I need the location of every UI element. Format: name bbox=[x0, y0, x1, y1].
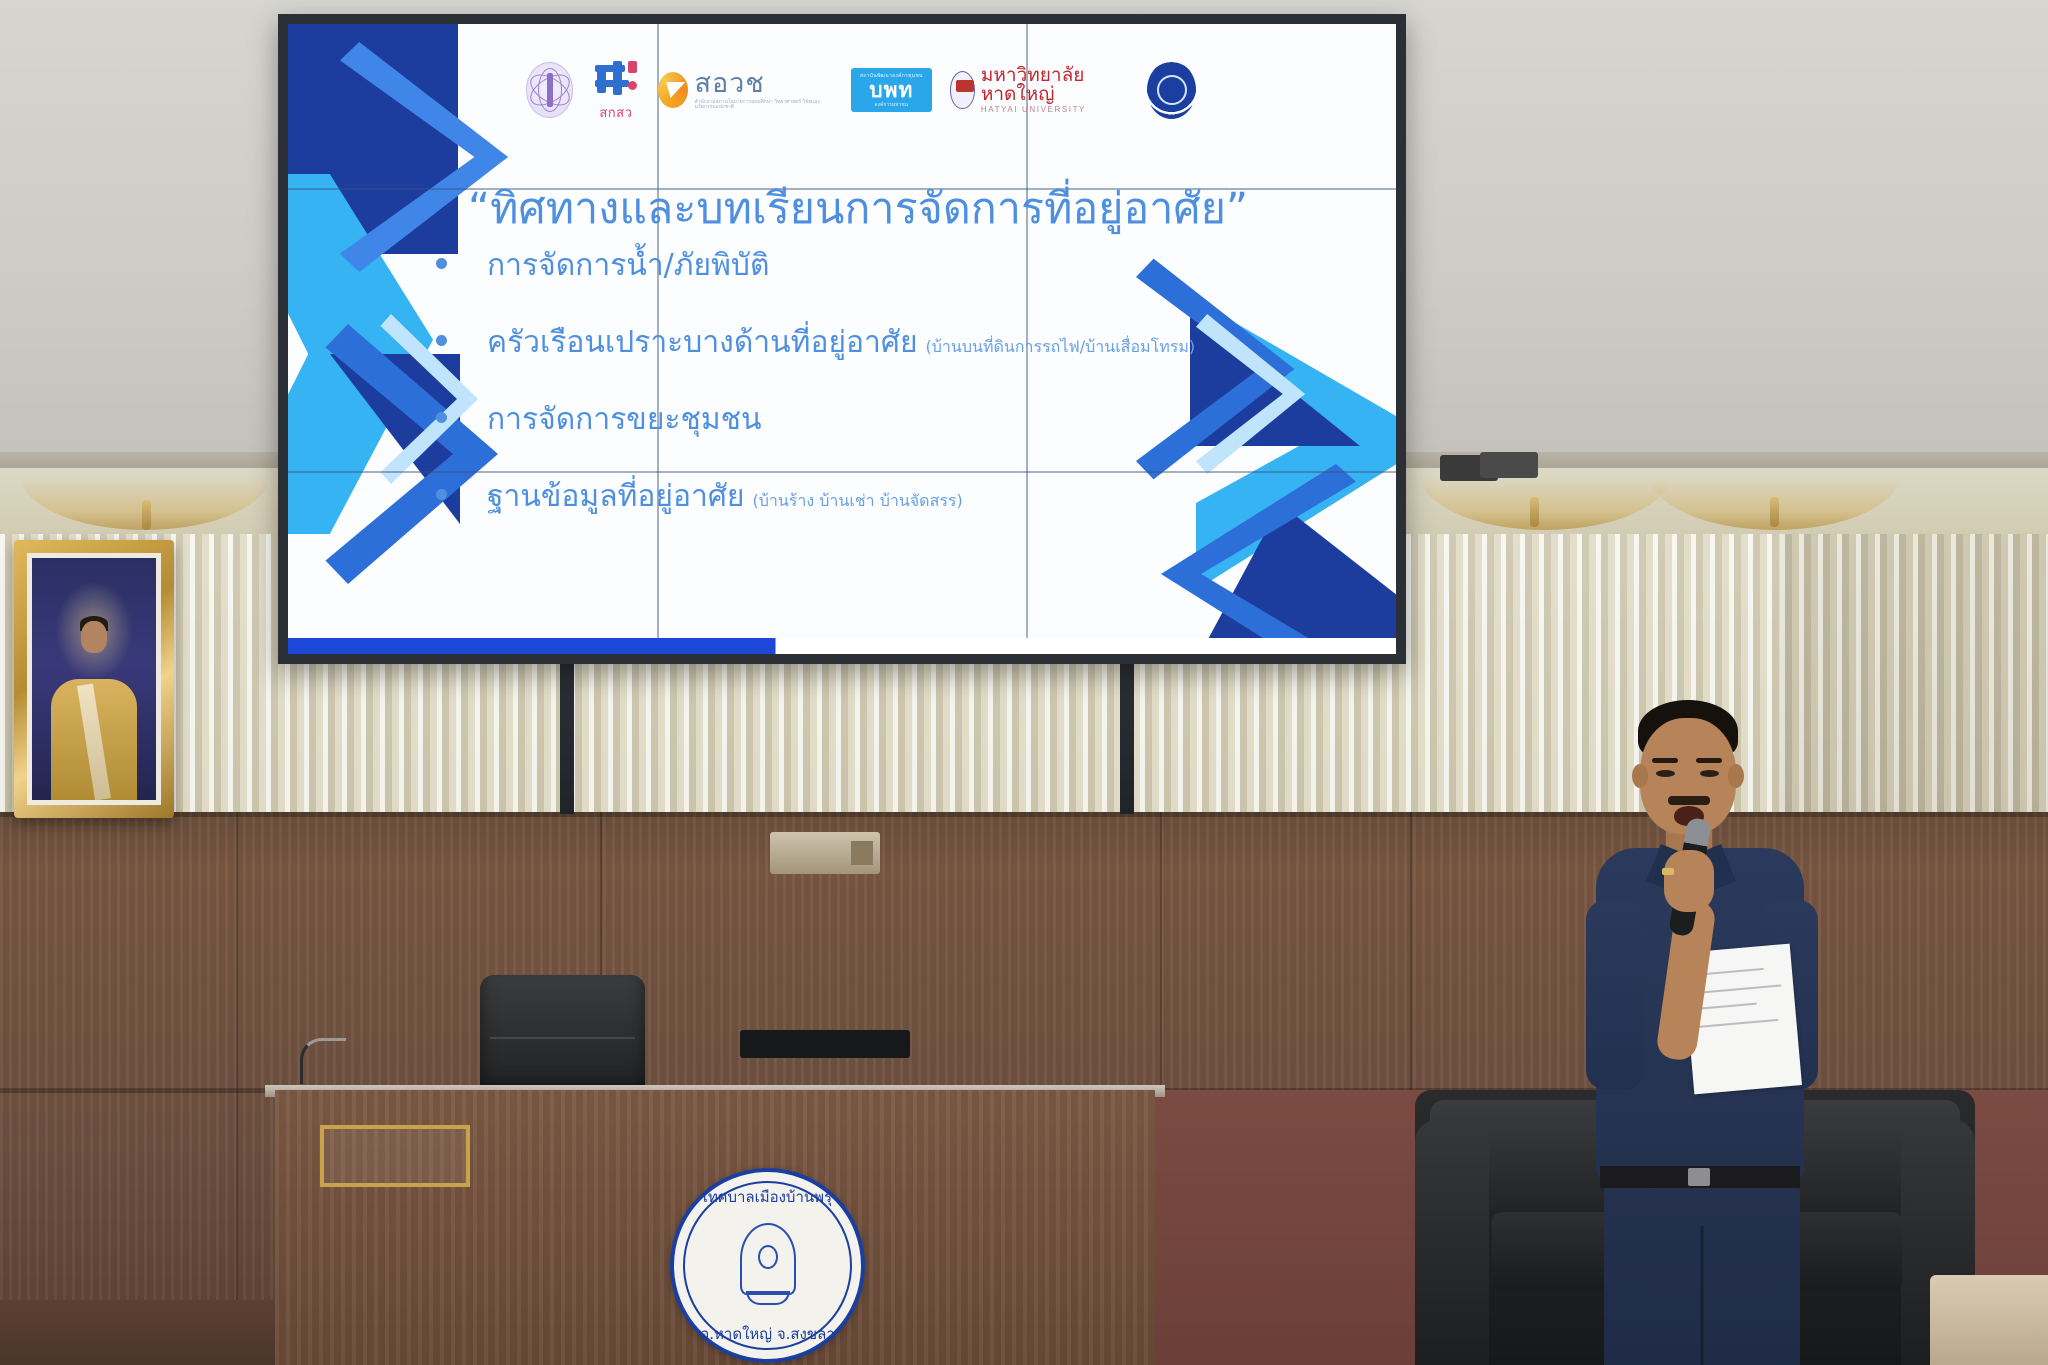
presenter-hand bbox=[1664, 850, 1714, 912]
list-item: การจัดการน้ำ/ภัยพิบัติ bbox=[436, 242, 1296, 289]
video-wall-display[interactable]: สกสว สอวช สำนักงานสภานโยบายการอุดมศึกษา … bbox=[278, 14, 1406, 664]
seal-deity-figure-icon bbox=[731, 1223, 805, 1309]
slide-logo-row: สกสว สอวช สำนักงานสภานโยบายการอุดมศึกษา … bbox=[526, 54, 1196, 126]
presenter-legs bbox=[1604, 1186, 1800, 1365]
hatyai-logo-label: มหาวิทยาลัยหาดใหญ่ bbox=[981, 66, 1129, 104]
wall-switch-plate[interactable] bbox=[770, 832, 880, 874]
municipal-seal-emblem: เทศบาลเมืองบ้านพรุ อ.หาดใหญ่ จ.สงขลา bbox=[670, 1168, 865, 1363]
curtain-tassel bbox=[142, 500, 151, 530]
sovp-logo-label: สอวช bbox=[694, 70, 832, 97]
nameplate-holder bbox=[320, 1125, 470, 1187]
wedding-ring bbox=[1662, 868, 1674, 875]
royal-portrait-image bbox=[32, 558, 156, 800]
municipal-seal-logo bbox=[1147, 61, 1196, 119]
display-mount-post bbox=[1120, 664, 1134, 814]
list-item: ฐานข้อมูลที่อยู่อาศัย (บ้านร้าง บ้านเช่า… bbox=[436, 473, 1296, 520]
sksw-logo-label: สกสว bbox=[591, 102, 640, 123]
bullet-note: (บ้านบนที่ดินการรถไฟ/บ้านเสื่อมโทรม) bbox=[926, 335, 1196, 360]
presenter-eyebrow-left bbox=[1652, 758, 1678, 763]
presenter-eye-right bbox=[1700, 770, 1719, 777]
list-item: การจัดการขยะชุมชน bbox=[436, 396, 1296, 443]
bullet-text: การจัดการขยะชุมชน bbox=[487, 396, 762, 443]
side-table bbox=[1930, 1275, 2048, 1365]
seal-bottom-text: อ.หาดใหญ่ จ.สงขลา bbox=[674, 1322, 861, 1346]
hatyai-university-logo: มหาวิทยาลัยหาดใหญ่ HATYAI UNIVERSITY bbox=[950, 66, 1129, 114]
sovp-logo: สอวช สำนักงานสภานโยบายการอุดมศึกษา วิทยา… bbox=[658, 70, 833, 110]
belt-buckle bbox=[1688, 1168, 1710, 1186]
executive-chair[interactable] bbox=[480, 975, 645, 1095]
tsri-logo bbox=[526, 62, 573, 118]
sovp-logo-sublabel: สำนักงานสภานโยบายการอุดมศึกษา วิทยาศาสตร… bbox=[694, 100, 832, 110]
slide-bullet-list: การจัดการน้ำ/ภัยพิบัติ ครัวเรือนเปราะบาง… bbox=[436, 242, 1296, 550]
curtain-tassel bbox=[1770, 497, 1779, 527]
bullet-text: ฐานข้อมูลที่อยู่อาศัย bbox=[487, 473, 744, 520]
bullet-text: การจัดการน้ำ/ภัยพิบัติ bbox=[487, 242, 769, 289]
presentation-slide: สกสว สอวช สำนักงานสภานโยบายการอุดมศึกษา … bbox=[288, 24, 1396, 654]
hatyai-seal-icon bbox=[950, 71, 975, 109]
portrait-mat bbox=[27, 553, 161, 805]
sovp-mark-icon bbox=[658, 72, 688, 108]
bpk-logo: สถาบันพัฒนาองค์กรชุมชน บพท องค์การมหาชน bbox=[851, 68, 932, 112]
panel-seam bbox=[236, 812, 238, 1365]
presenter-eyebrow-right bbox=[1696, 758, 1722, 763]
presenter-moustache bbox=[1668, 796, 1710, 805]
bullet-note: (บ้านร้าง บ้านเช่า บ้านจัดสรร) bbox=[752, 489, 962, 514]
bullet-dot-icon bbox=[436, 258, 447, 269]
presenter-sleeve-left bbox=[1586, 900, 1644, 1090]
sksw-logo: สกสว bbox=[591, 59, 640, 121]
presenter-ear-left bbox=[1632, 764, 1648, 788]
bullet-text: ครัวเรือนเปราะบางด้านที่อยู่อาศัย bbox=[487, 319, 918, 366]
display-mount-post bbox=[560, 664, 574, 814]
sofa-armrest bbox=[1415, 1120, 1489, 1365]
presenter-eye-left bbox=[1656, 770, 1675, 777]
presenter-person bbox=[1580, 700, 1840, 1365]
slide-bottom-band bbox=[288, 638, 1396, 654]
list-item: ครัวเรือนเปราะบางด้านที่อยู่อาศัย (บ้านบ… bbox=[436, 319, 1296, 366]
bullet-dot-icon bbox=[436, 412, 447, 423]
seal-top-text: เทศบาลเมืองบ้านพรุ bbox=[674, 1185, 861, 1209]
ceiling-speaker-icon bbox=[1480, 452, 1538, 478]
bullet-dot-icon bbox=[436, 335, 447, 346]
scene-photograph: สกสว สอวช สำนักงานสภานโยบายการอุดมศึกษา … bbox=[0, 0, 2048, 1365]
hatyai-logo-sublabel: HATYAI UNIVERSITY bbox=[981, 106, 1129, 114]
bullet-dot-icon bbox=[436, 489, 447, 500]
bpk-logo-bottomtext: องค์การมหาชน bbox=[875, 101, 909, 109]
royal-portrait-frame bbox=[14, 540, 174, 818]
curtain-tassel bbox=[1530, 497, 1539, 527]
bpk-logo-label: บพท bbox=[869, 80, 913, 101]
gooseneck-microphone[interactable] bbox=[300, 1038, 346, 1084]
presenter-ear-right bbox=[1728, 764, 1744, 788]
slide-title: “ทิศทางและบทเรียนการจัดการที่อยู่อาศัย” bbox=[408, 174, 1308, 242]
desk-equipment-box[interactable] bbox=[740, 1030, 910, 1058]
